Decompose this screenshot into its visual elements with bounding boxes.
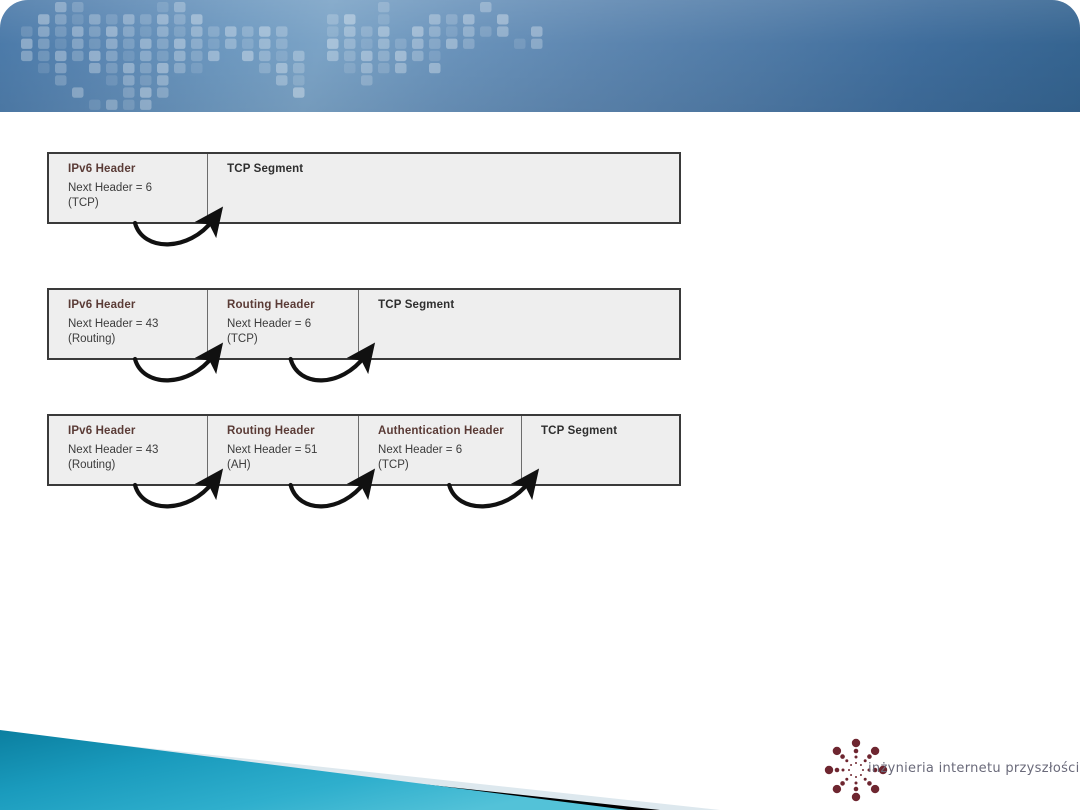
packet-field-title: IPv6 Header (68, 298, 207, 312)
logo-dot (845, 778, 848, 781)
packet-field-1: IPv6 HeaderNext Header = 43(Routing) (49, 416, 208, 484)
logo-dot (864, 778, 867, 781)
packet-field-title: IPv6 Header (68, 162, 207, 176)
logo-dot (864, 759, 867, 762)
logo-dot (852, 739, 860, 747)
logo-dot (842, 769, 845, 772)
logo-dot (862, 769, 864, 771)
logo-dot (860, 764, 862, 766)
logo: inżynieria internetu przyszłości (812, 735, 1080, 805)
packet-field-4: TCP Segment (522, 416, 679, 484)
logo-dot (845, 759, 848, 762)
packet-field-2: Routing HeaderNext Header = 6(TCP) (208, 290, 359, 358)
logo-dot (871, 785, 879, 793)
logo-dot (835, 768, 840, 773)
packet-field-line: Next Header = 43 (68, 317, 207, 332)
packet-field-title: TCP Segment (227, 162, 679, 176)
logo-dot (855, 756, 858, 759)
logo-dot (855, 762, 857, 764)
packet-field-title: Authentication Header (378, 424, 521, 438)
packet-field-2: Routing HeaderNext Header = 51(AH) (208, 416, 359, 484)
packet-field-line: Next Header = 6 (68, 181, 207, 196)
logo-dot (848, 769, 850, 771)
logo-dot (867, 754, 872, 759)
logo-dot (855, 776, 857, 778)
packet-field-title: Routing Header (227, 298, 358, 312)
packet-field-line: (Routing) (68, 458, 207, 473)
packet-field-3: Authentication HeaderNext Header = 6(TCP… (359, 416, 522, 484)
packet-field-line: Next Header = 6 (227, 317, 358, 332)
packet-field-title: Routing Header (227, 424, 358, 438)
packet-field-title: TCP Segment (541, 424, 679, 438)
packet-field-title: IPv6 Header (68, 424, 207, 438)
logo-dot (850, 774, 852, 776)
bottom-diagonal-decoration (0, 660, 720, 810)
logo-dot (840, 781, 845, 786)
packet-field-line: (TCP) (227, 332, 358, 347)
teal-band (0, 730, 628, 810)
table-row: IPv6 HeaderNext Header = 43(Routing)Rout… (47, 414, 681, 486)
logo-dot (860, 774, 862, 776)
logo-dot (833, 785, 841, 793)
logo-dot (871, 747, 879, 755)
logo-text: inżynieria internetu przyszłości (868, 761, 1080, 776)
logo-dot (825, 766, 833, 774)
packet-field-line: (AH) (227, 458, 358, 473)
packet-field-title: TCP Segment (378, 298, 679, 312)
packet-field-line: Next Header = 6 (378, 443, 521, 458)
packet-field-3: TCP Segment (359, 290, 679, 358)
packet-field-line: Next Header = 51 (227, 443, 358, 458)
packet-field-line: (Routing) (68, 332, 207, 347)
packet-field-line: (TCP) (68, 196, 207, 211)
logo-dot (854, 787, 859, 792)
table-row: IPv6 HeaderNext Header = 6(TCP)TCP Segme… (47, 152, 681, 224)
logo-dot (867, 781, 872, 786)
packet-field-1: IPv6 HeaderNext Header = 43(Routing) (49, 290, 208, 358)
packet-field-2: TCP Segment (208, 154, 679, 222)
packet-field-1: IPv6 HeaderNext Header = 6(TCP) (49, 154, 208, 222)
logo-dot (855, 782, 858, 785)
logo-dot (840, 754, 845, 759)
packet-field-line: Next Header = 43 (68, 443, 207, 458)
packet-field-line: (TCP) (378, 458, 521, 473)
logo-dot (852, 793, 860, 801)
logo-dot (833, 747, 841, 755)
logo-dot (854, 749, 859, 754)
logo-dot (850, 764, 852, 766)
table-row: IPv6 HeaderNext Header = 43(Routing)Rout… (47, 288, 681, 360)
